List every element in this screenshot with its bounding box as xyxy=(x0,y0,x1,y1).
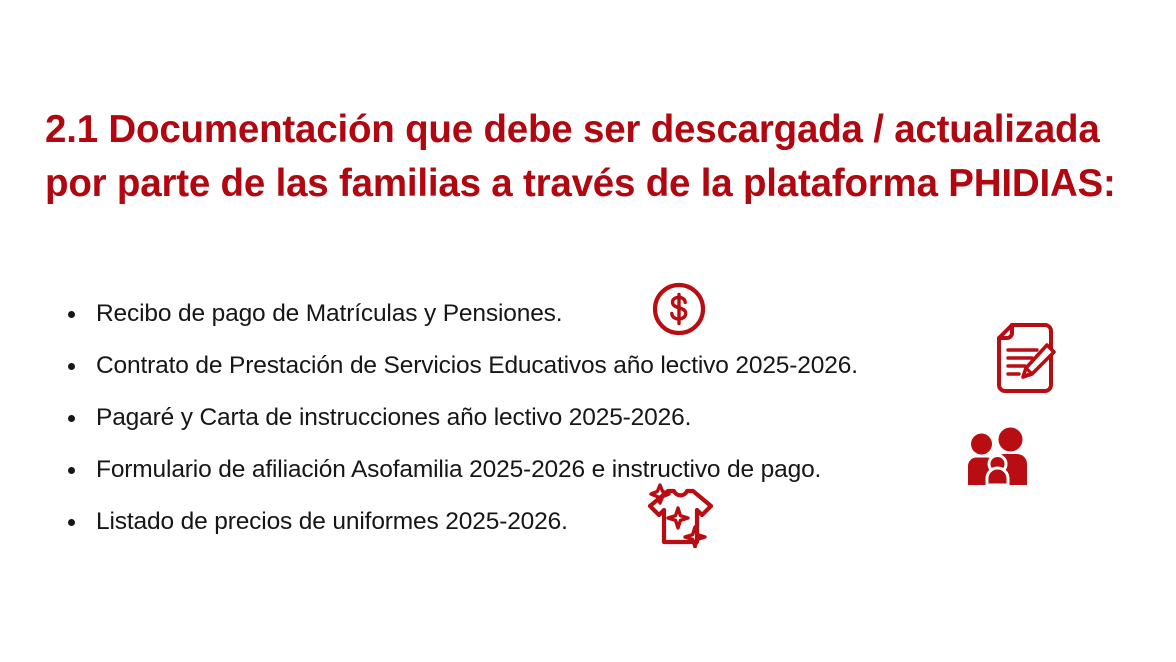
list-item: Listado de precios de uniformes 2025-202… xyxy=(62,496,1122,548)
bullet-marker xyxy=(68,415,75,422)
list-item-label: Pagaré y Carta de instrucciones año lect… xyxy=(96,404,691,432)
list-item: Contrato de Prestación de Servicios Educ… xyxy=(62,340,1122,392)
bullet-marker xyxy=(68,311,75,318)
slide-canvas: 2.1 Documentación que debe ser descargad… xyxy=(0,0,1176,662)
bullet-marker xyxy=(68,519,75,526)
money-circle-icon xyxy=(651,281,707,337)
document-pencil-icon xyxy=(992,322,1058,396)
tshirt-sparkle-icon xyxy=(643,482,717,548)
list-item-label: Recibo de pago de Matrículas y Pensiones… xyxy=(96,300,562,328)
list-item-label: Contrato de Prestación de Servicios Educ… xyxy=(96,352,858,380)
family-group-icon xyxy=(964,427,1034,487)
list-item: Pagaré y Carta de instrucciones año lect… xyxy=(62,392,1122,444)
list-item-label: Listado de precios de uniformes 2025-202… xyxy=(96,508,568,536)
document-list: Recibo de pago de Matrículas y Pensiones… xyxy=(62,288,1122,548)
bullet-marker xyxy=(68,363,75,370)
list-item-label: Formulario de afiliación Asofamilia 2025… xyxy=(96,456,821,484)
page-title: 2.1 Documentación que debe ser descargad… xyxy=(45,103,1120,211)
list-item: Recibo de pago de Matrículas y Pensiones… xyxy=(62,288,1122,340)
list-item: Formulario de afiliación Asofamilia 2025… xyxy=(62,444,1122,496)
bullet-marker xyxy=(68,467,75,474)
